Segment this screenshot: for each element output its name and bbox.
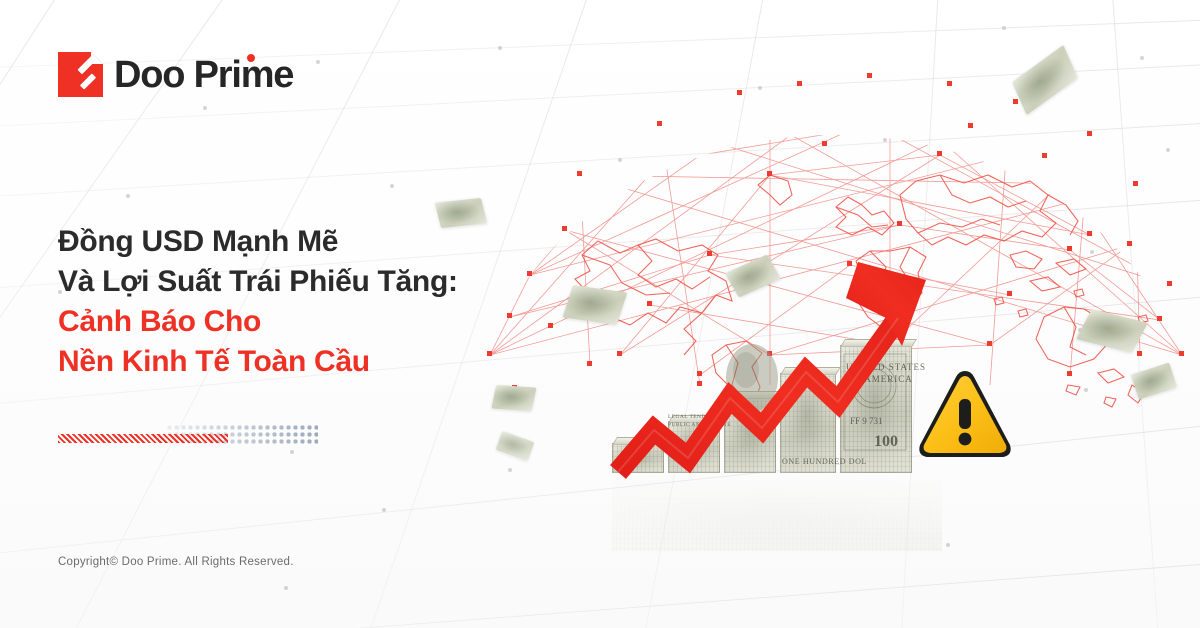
logo-i-dot-icon xyxy=(247,54,255,62)
bar-chart-reflection xyxy=(612,473,942,551)
upward-trend-arrow xyxy=(610,222,960,482)
decorative-band xyxy=(58,424,318,450)
headline-line-2: Và Lợi Suất Trái Phiếu Tăng: xyxy=(58,262,578,302)
brand-name: Doo Prime xyxy=(114,54,293,96)
poster-canvas: UNITED STATES OF AMERICA FF 9 731 100 ON… xyxy=(0,0,1200,628)
flying-banknote xyxy=(491,385,536,411)
brand-logo-text: Doo Prime xyxy=(114,56,293,94)
brand-logo[interactable]: Doo Prime xyxy=(58,52,293,97)
red-hatch-pattern xyxy=(58,434,228,443)
copyright-text: Copyright© Doo Prime. All Rights Reserve… xyxy=(58,556,294,568)
warning-triangle-icon xyxy=(914,365,1016,465)
doo-prime-logo-mark-icon xyxy=(58,52,103,97)
headline-block: Đồng USD Mạnh Mẽ Và Lợi Suất Trái Phiếu … xyxy=(58,222,578,382)
headline-line-3: Cảnh Báo Cho xyxy=(58,302,578,342)
headline-line-1: Đồng USD Mạnh Mẽ xyxy=(58,222,578,262)
headline-line-4: Nền Kinh Tế Toàn Cầu xyxy=(58,342,578,382)
